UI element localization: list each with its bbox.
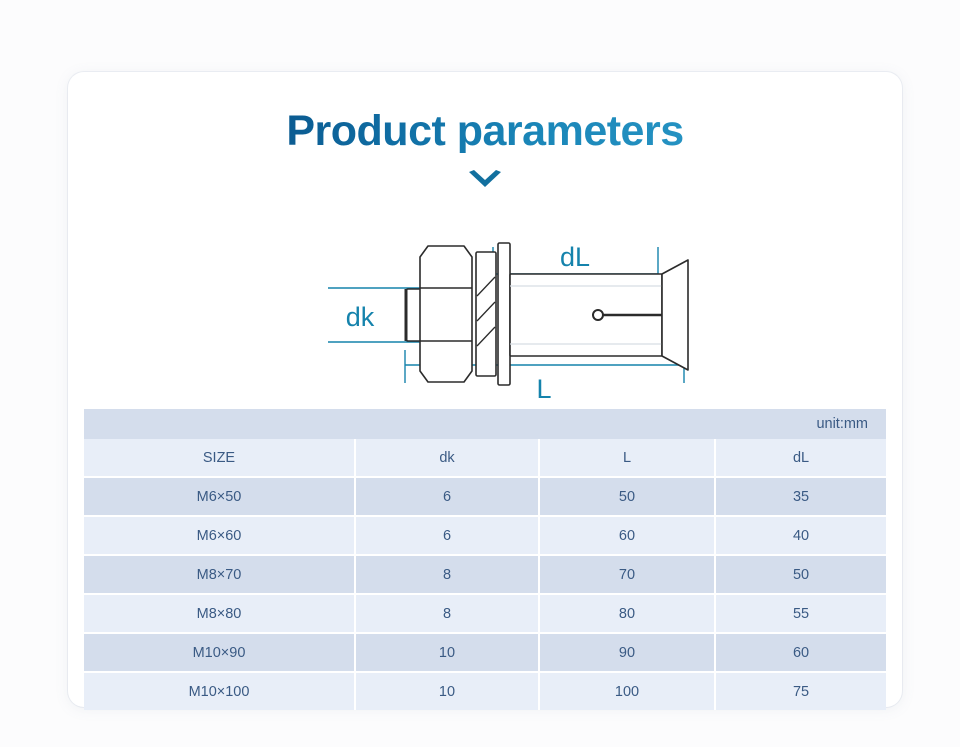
cell-dl: 55: [716, 593, 886, 632]
cell-dk: 6: [356, 476, 540, 515]
cell-dl: 50: [716, 554, 886, 593]
cell-dk: 6: [356, 515, 540, 554]
cell-dk: 10: [356, 671, 540, 710]
dimension-label-dl: dL: [560, 242, 590, 272]
chevron-down-icon: [68, 167, 902, 193]
flat-washer: [498, 243, 510, 385]
dimension-label-dk: dk: [346, 302, 375, 332]
cell-size: M6×50: [84, 476, 356, 515]
column-header-size: SIZE: [84, 439, 356, 476]
expansion-cone: [662, 260, 688, 370]
cell-size: M6×60: [84, 515, 356, 554]
table-row: M10×90 10 90 60: [84, 632, 886, 671]
spec-table-wrapper: unit:mm SIZE dk L dL M6×50 6 50 35: [84, 409, 886, 710]
spec-table: unit:mm SIZE dk L dL M6×50 6 50 35: [84, 409, 886, 710]
table-row: M10×100 10 100 75: [84, 671, 886, 710]
cell-size: M10×100: [84, 671, 356, 710]
cell-dk: 8: [356, 554, 540, 593]
cell-size: M8×70: [84, 554, 356, 593]
table-unit-row: unit:mm: [84, 409, 886, 439]
expansion-anchor-bolt-drawing: dL dk L: [248, 200, 728, 400]
table-row: M8×70 8 70 50: [84, 554, 886, 593]
cell-dl: 75: [716, 671, 886, 710]
cell-l: 50: [540, 476, 716, 515]
table-row: M6×60 6 60 40: [84, 515, 886, 554]
product-parameters-page: Product parameters dL: [0, 0, 960, 747]
column-header-dl: dL: [716, 439, 886, 476]
cell-dk: 8: [356, 593, 540, 632]
cell-l: 80: [540, 593, 716, 632]
column-header-dk: dk: [356, 439, 540, 476]
cell-dl: 35: [716, 476, 886, 515]
cell-l: 90: [540, 632, 716, 671]
spring-washer: [476, 252, 496, 376]
cell-size: M10×90: [84, 632, 356, 671]
page-title: Product parameters: [286, 110, 683, 153]
cell-l: 60: [540, 515, 716, 554]
cell-size: M8×80: [84, 593, 356, 632]
column-header-l: L: [540, 439, 716, 476]
product-parameters-card: Product parameters dL: [68, 72, 902, 707]
header-block: Product parameters: [68, 110, 902, 193]
hex-nut: [420, 246, 472, 382]
cell-dl: 40: [716, 515, 886, 554]
cell-dl: 60: [716, 632, 886, 671]
table-row: M8×80 8 80 55: [84, 593, 886, 632]
cell-dk: 10: [356, 632, 540, 671]
table-header-row: SIZE dk L dL: [84, 439, 886, 476]
cell-l: 70: [540, 554, 716, 593]
unit-note: unit:mm: [84, 409, 886, 439]
cell-l: 100: [540, 671, 716, 710]
table-row: M6×50 6 50 35: [84, 476, 886, 515]
dimension-label-l: L: [536, 374, 551, 400]
